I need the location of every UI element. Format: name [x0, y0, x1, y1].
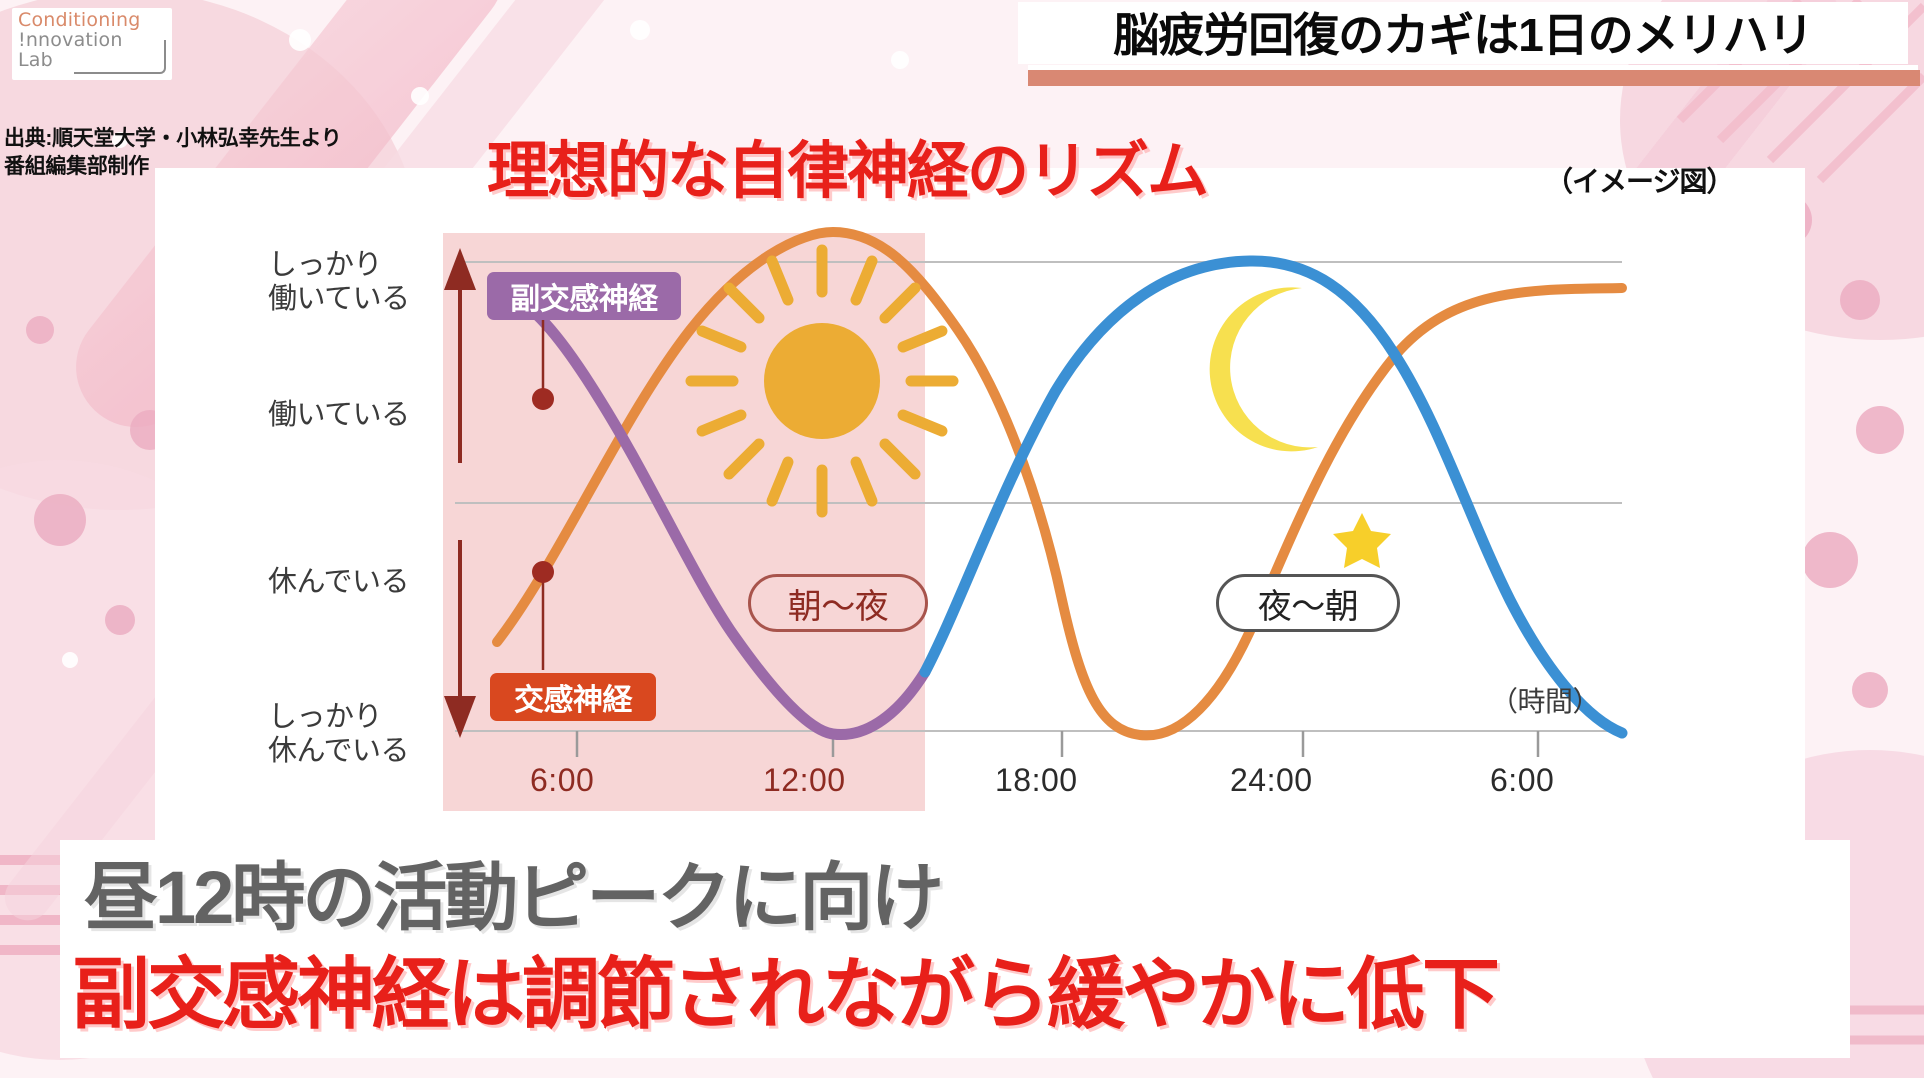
legend-chip-sympathetic: 交感神経: [490, 673, 656, 721]
page-title: 理想的な自律神経のリズム: [487, 120, 1207, 210]
y-tick-label-resting: 休んでいる: [268, 565, 409, 599]
x-tick-label-2400: 24:00: [1230, 762, 1313, 799]
legend-chip-parasympathetic: 副交感神経: [487, 272, 681, 320]
x-tick-label-1800: 18:00: [995, 762, 1078, 799]
source-credit: 出典:順天堂大学・小林弘幸先生より 番組編集部制作: [4, 125, 474, 182]
y-tick-label-fully-resting: しっかり 休んでいる: [268, 700, 409, 768]
logo-bracket: [74, 40, 166, 74]
badge-morning-to-night: 朝〜夜: [748, 574, 928, 632]
source-line-2: 番組編集部制作: [4, 153, 474, 181]
header-banner-underline: [1028, 70, 1920, 86]
page-subtitle: （イメージ図）: [1545, 160, 1733, 200]
header-banner: 脳疲労回復のカギは1日のメリハリ: [1018, 2, 1918, 88]
x-tick-label-1200: 12:00: [763, 762, 846, 799]
caption-line-2: 副交感神経は調節されながら緩やかに低下: [72, 932, 1497, 1044]
badge-night-to-morning: 夜〜朝: [1216, 574, 1400, 632]
x-tick-label-0600-next: 6:00: [1490, 762, 1554, 799]
caption-line-1: 昼12時の活動ピークに向け: [84, 838, 941, 945]
x-axis-unit-label: （時間）: [1490, 680, 1600, 720]
y-tick-label-active: 働いている: [268, 398, 410, 432]
logo-line-conditioning: Conditioning: [18, 11, 166, 31]
y-tick-label-fully-active: しっかり 働いている: [268, 248, 410, 316]
header-banner-text: 脳疲労回復のカギは1日のメリハリ: [1018, 1, 1908, 63]
channel-logo: Conditioning !nnovation Lab: [12, 8, 172, 80]
x-tick-label-0600: 6:00: [530, 762, 594, 799]
source-line-1: 出典:順天堂大学・小林弘幸先生より: [4, 125, 474, 153]
